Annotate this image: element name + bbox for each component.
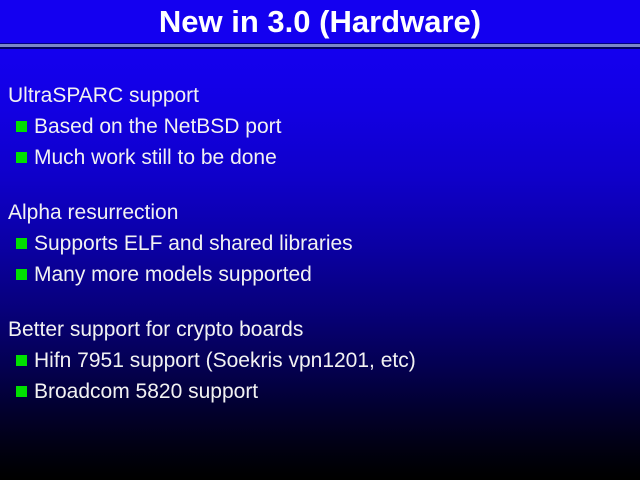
- slide-title: New in 3.0 (Hardware): [0, 4, 640, 40]
- list-item-label: Many more models supported: [34, 259, 312, 290]
- title-divider-rule: [0, 43, 640, 49]
- green-square-bullet-icon: [16, 238, 27, 249]
- list-item-label: Broadcom 5820 support: [34, 376, 258, 407]
- list-item-label: Supports ELF and shared libraries: [34, 228, 353, 259]
- list-item: Based on the NetBSD port: [8, 111, 632, 142]
- group-heading: Alpha resurrection: [8, 197, 632, 228]
- list-item-label: Based on the NetBSD port: [34, 111, 281, 142]
- list-item-label: Hifn 7951 support (Soekris vpn1201, etc): [34, 345, 416, 376]
- list-item: Supports ELF and shared libraries: [8, 228, 632, 259]
- list-item: Many more models supported: [8, 259, 632, 290]
- list-item: Hifn 7951 support (Soekris vpn1201, etc): [8, 345, 632, 376]
- rule-bottom-edge: [0, 47, 640, 49]
- green-square-bullet-icon: [16, 355, 27, 366]
- green-square-bullet-icon: [16, 121, 27, 132]
- presentation-slide: New in 3.0 (Hardware) UltraSPARC support…: [0, 0, 640, 480]
- green-square-bullet-icon: [16, 152, 27, 163]
- group-heading: Better support for crypto boards: [8, 314, 632, 345]
- list-item: Broadcom 5820 support: [8, 376, 632, 407]
- list-item-label: Much work still to be done: [34, 142, 277, 173]
- green-square-bullet-icon: [16, 269, 27, 280]
- slide-title-band: New in 3.0 (Hardware): [0, 0, 640, 44]
- content-group-crypto: Better support for crypto boards Hifn 79…: [8, 314, 632, 407]
- slide-body: UltraSPARC support Based on the NetBSD p…: [8, 80, 632, 407]
- group-heading: UltraSPARC support: [8, 80, 632, 111]
- content-group-ultrasparc: UltraSPARC support Based on the NetBSD p…: [8, 80, 632, 173]
- content-group-alpha: Alpha resurrection Supports ELF and shar…: [8, 197, 632, 290]
- green-square-bullet-icon: [16, 386, 27, 397]
- list-item: Much work still to be done: [8, 142, 632, 173]
